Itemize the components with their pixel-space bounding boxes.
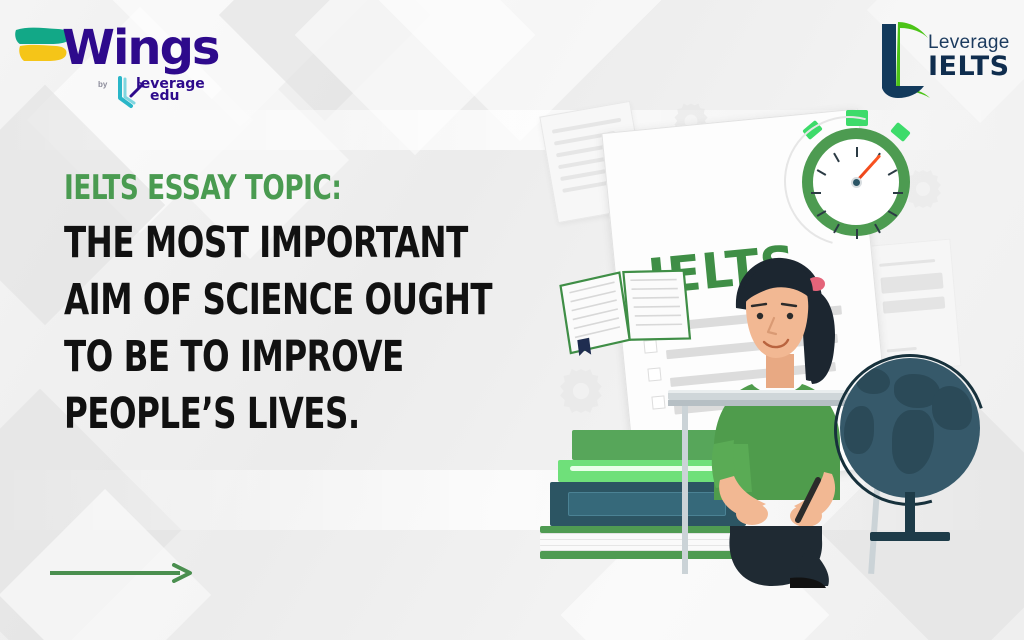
leverage-ielts-wordmark: Leverage IELTS — [928, 32, 1010, 82]
poster-canvas: Wings by leverage edu Leverage IELTS IEL… — [0, 0, 1024, 640]
paper-checkbox — [651, 395, 665, 409]
desk-leg-left — [682, 406, 688, 574]
arrow-right-icon — [48, 563, 198, 583]
headline-line-1: THE MOST IMPORTANT — [64, 222, 434, 265]
headline-line-2: AIM OF SCIENCE OUGHT — [64, 279, 434, 322]
wings-wordmark: Wings — [62, 20, 219, 76]
leverage-ielts-line2: IELTS — [928, 51, 1010, 82]
headline-line-3: TO BE TO IMPROVE — [64, 336, 434, 379]
student-exam-illustration: IELTS — [500, 90, 1024, 590]
leverage-ielts-logo[interactable]: Leverage IELTS — [876, 16, 1006, 100]
paper-checkbox — [647, 367, 661, 381]
leverage-book-l-icon — [876, 16, 932, 100]
leverage-edu-wordmark: leverage edu — [136, 78, 205, 102]
wings-logo[interactable]: Wings by leverage edu — [14, 14, 209, 114]
gear-icon-2 — [552, 362, 610, 420]
globe-base — [870, 532, 950, 541]
headline-block: IELTS ESSAY TOPIC: THE MOST IMPORTANT AI… — [64, 168, 504, 436]
headline-kicker: IELTS ESSAY TOPIC: — [64, 168, 442, 208]
wings-by-label: by — [98, 80, 107, 89]
headline-line-4: PEOPLE’S LIVES. — [64, 393, 434, 436]
stopwatch-icon — [796, 110, 918, 232]
open-book-icon — [557, 261, 694, 360]
globe — [830, 358, 990, 548]
globe-pole — [905, 492, 915, 534]
hand-left — [736, 503, 768, 525]
